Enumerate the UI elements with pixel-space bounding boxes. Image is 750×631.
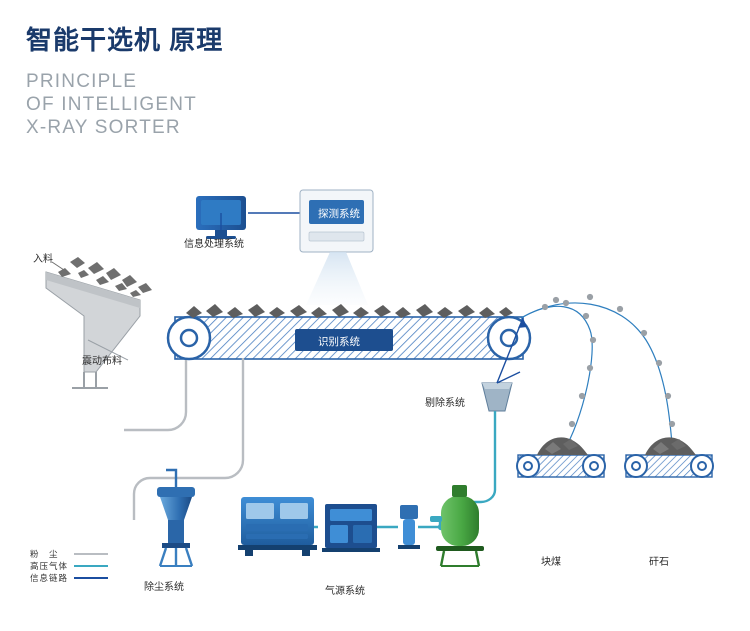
- material-trajectories: [521, 303, 672, 452]
- lump-coal-conveyor: [517, 437, 605, 477]
- legend-item-high-pressure-gas: 高压气体: [30, 560, 108, 572]
- legend-label-high-pressure-gas: 高压气体: [30, 560, 70, 572]
- air-receiver-tank: [430, 485, 484, 566]
- air-dryer-cabinet: [322, 504, 380, 552]
- legend-swatch-dust: [74, 553, 108, 555]
- label-vibrating-feeder: 震动布料: [82, 352, 122, 367]
- label-dust-removal-system: 除尘系统: [144, 578, 184, 593]
- label-identification-system: 识别系统: [318, 334, 360, 349]
- legend-swatch-high-pressure-gas: [74, 565, 108, 567]
- gangue-conveyor: [625, 437, 713, 477]
- belt-material: [186, 304, 513, 318]
- principle-diagram: [0, 0, 750, 631]
- dust-collector: [157, 470, 195, 566]
- legend: 粉 尘 高压气体 信息链路: [30, 548, 108, 584]
- legend-label-dust: 粉 尘: [30, 548, 70, 560]
- trajectory-particles: [542, 294, 675, 427]
- label-air-source-system: 气源系统: [325, 582, 365, 597]
- label-info-processing-system: 信息处理系统: [184, 235, 244, 250]
- label-feed: 入料: [33, 250, 53, 265]
- detection-system-box: [300, 190, 373, 252]
- legend-swatch-info-link: [74, 577, 108, 579]
- xray-beam: [306, 252, 368, 305]
- air-filter: [398, 505, 420, 549]
- legend-item-dust: 粉 尘: [30, 548, 108, 560]
- air-compressor: [238, 497, 317, 556]
- legend-label-info-link: 信息链路: [30, 572, 70, 584]
- legend-item-info-link: 信息链路: [30, 572, 108, 584]
- label-rejection-system: 剔除系统: [425, 394, 465, 409]
- label-lump-coal: 块煤: [541, 553, 561, 568]
- label-gangue: 矸石: [649, 553, 669, 568]
- label-detection-system: 探测系统: [318, 206, 360, 221]
